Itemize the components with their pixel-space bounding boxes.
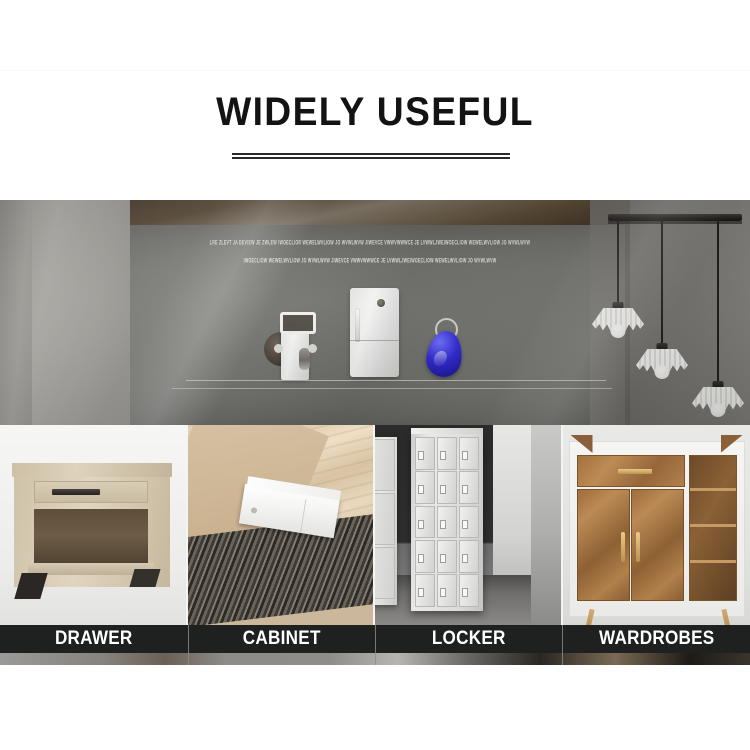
locker-top-cap — [411, 428, 483, 434]
lamp-cord — [661, 218, 663, 343]
page-title: WIDELY USEFUL — [26, 92, 724, 132]
locker-side-unit — [375, 437, 397, 605]
title-rule-upper — [232, 153, 510, 155]
rfid-module-seam — [350, 340, 399, 341]
locker-side-door — [375, 493, 395, 545]
locker-compartment — [415, 437, 435, 470]
rfid-lock-module — [350, 288, 399, 377]
rfid-module-sensor-icon — [377, 299, 385, 307]
hero-wall-left-edge — [0, 200, 32, 425]
hero-accent-line-2 — [172, 388, 612, 389]
locker-compartment — [437, 437, 457, 470]
hero-device-group — [272, 282, 472, 392]
lamp-bulb — [611, 324, 626, 338]
cam-lock-latch — [280, 312, 316, 334]
rfid-module-slot — [355, 308, 360, 342]
caption-wardrobes: WARDROBES — [572, 625, 741, 653]
locker-main-unit — [411, 433, 483, 611]
locker-right-wall — [531, 425, 561, 627]
locker-compartment — [437, 506, 457, 539]
caption-separator-2 — [375, 625, 376, 665]
blue-rfid-keyfob — [425, 318, 465, 380]
keyfob-body — [424, 329, 465, 379]
cabinet-photo — [188, 425, 374, 627]
wardrobe-shelf — [690, 560, 736, 563]
hero-scene: LRE ZLEVT JA DEVIEW JE ZWLEW IWOECLIOR W… — [0, 200, 750, 425]
locker-compartment — [459, 540, 479, 573]
lock-module-indicator — [250, 507, 257, 514]
pendant-lamp-group — [600, 200, 750, 425]
locker-compartment — [415, 506, 435, 539]
page-title-wrap: WIDELY USEFUL — [0, 92, 750, 132]
locker-compartment — [415, 574, 435, 607]
wardrobe-door-right — [631, 489, 684, 601]
lamp-cord — [717, 218, 719, 381]
caption-drawer: DRAWER — [9, 625, 178, 653]
wardrobe-door-handle-left — [621, 532, 625, 562]
product-feature-banner: WIDELY USEFUL LRE ZLEVT JA DEVIEW JE ZWL… — [0, 0, 750, 750]
locker-compartment — [437, 540, 457, 573]
lamp-cord — [617, 218, 619, 302]
nightstand-open-shelf — [34, 509, 148, 567]
locker-compartment — [437, 574, 457, 607]
locker-side-door — [375, 547, 395, 599]
wardrobe-door-handle-right — [636, 532, 640, 562]
wardrobe-door-left — [577, 489, 630, 601]
cam-lock-screw-right — [308, 344, 317, 353]
locker-compartment — [459, 574, 479, 607]
top-hairline-divider — [0, 70, 750, 71]
locker-compartment-grid — [415, 437, 479, 607]
locker-compartment — [459, 506, 479, 539]
nightstand-illustration — [12, 463, 172, 605]
locker-compartment — [415, 540, 435, 573]
wardrobe-shelf — [690, 488, 736, 491]
locker-compartment — [437, 471, 457, 504]
caption-locker: LOCKER — [384, 625, 553, 653]
lamp-bulb — [711, 403, 726, 417]
keyfob-gloss — [431, 349, 449, 369]
wardrobe-open-shelves — [689, 455, 737, 601]
nightstand-top — [12, 463, 172, 477]
lamp-bulb — [655, 365, 670, 379]
wardrobes-photo — [563, 425, 750, 627]
locker-side-door — [375, 439, 395, 491]
nightstand-foot-right — [129, 569, 160, 587]
locker-compartment — [415, 471, 435, 504]
caption-separator-3 — [562, 625, 563, 665]
locker-compartment — [459, 471, 479, 504]
title-double-rule — [232, 153, 510, 159]
cam-lock-screw-left — [274, 344, 283, 353]
caption-cabinet: CABINET — [197, 625, 366, 653]
cabinet-cam-lock — [272, 312, 320, 380]
caption-separator-1 — [188, 625, 189, 665]
locker-photo — [375, 425, 561, 627]
locker-compartment — [459, 437, 479, 470]
hero-accent-line-1 — [186, 380, 606, 381]
lamp-mounting-bar — [608, 214, 742, 221]
title-rule-lower — [232, 157, 510, 159]
wardrobe-drawer — [577, 455, 685, 487]
wardrobe-shelf — [690, 524, 736, 527]
drawer-photo — [0, 425, 186, 627]
wardrobe-drawer-handle — [618, 469, 652, 474]
shoe-cabinet-illustration — [569, 433, 745, 625]
nightstand-drawer-handle — [52, 489, 100, 495]
